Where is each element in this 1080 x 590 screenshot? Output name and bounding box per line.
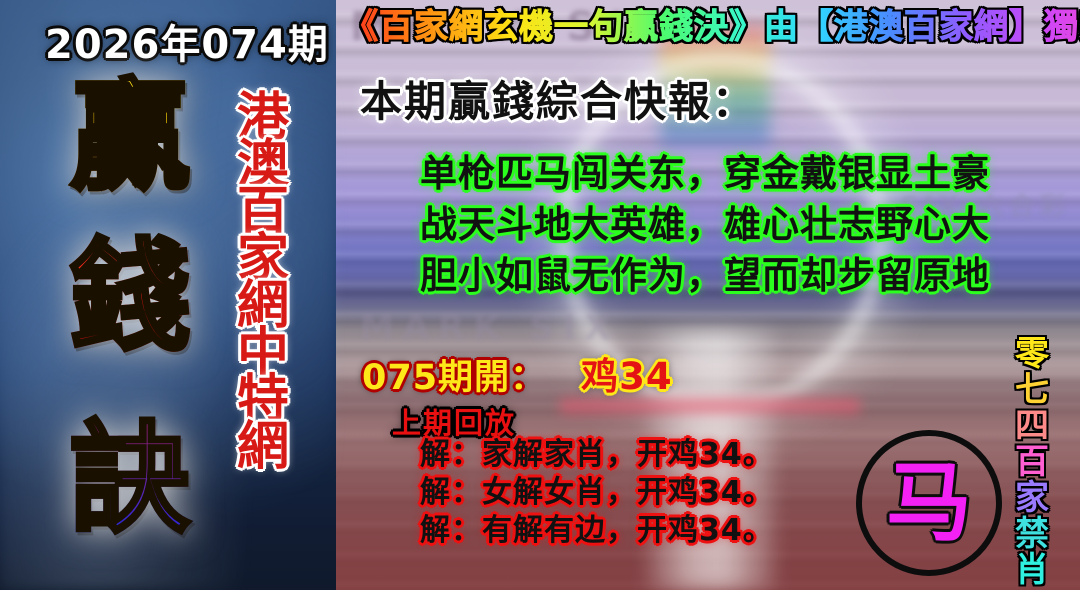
brand-glyph-win-char: 贏 bbox=[50, 78, 210, 198]
background-watermark-mid: MARK SIX bbox=[360, 308, 780, 348]
forbidden-vertical-char-4: 家 bbox=[1004, 480, 1060, 516]
lottery-poster: MARK SIX MARK SIX SIX 六合彩 2026年074期 贏 錢 … bbox=[0, 0, 1080, 590]
forbidden-vertical-char-1: 七 bbox=[1004, 372, 1060, 408]
brand-vertical-text: 港 澳 百 家 網 中 特 網 bbox=[228, 95, 298, 471]
forbidden-vertical-char-3: 百 bbox=[1004, 444, 1060, 480]
period-title: 2026年074期 bbox=[45, 12, 329, 70]
replay-line-1: 解：家解家肖，开鸡34。 bbox=[420, 436, 774, 474]
forbidden-zodiac-vertical-text: 零 七 四 百 家 禁 肖 bbox=[1004, 336, 1060, 588]
draw-result-value: 鸡34 bbox=[581, 355, 673, 398]
poem-line-2: 战天斗地大英雄，雄心壮志野心大 bbox=[420, 199, 1000, 250]
brand-glyph-money: 錢 bbox=[50, 238, 210, 358]
forbidden-vertical-char-6: 肖 bbox=[1004, 552, 1060, 588]
main-headline: 本期贏錢綜合快報： bbox=[360, 78, 756, 126]
brand-glyph-money-char: 錢 bbox=[50, 238, 210, 358]
zodiac-badge-char: 马 bbox=[886, 460, 972, 546]
brand-glyph-secret-char: 訣 bbox=[50, 420, 210, 540]
forecast-poem: 单枪匹马闯关东，穿金戴银显土豪 战天斗地大英雄，雄心壮志野心大 胆小如鼠无作为，… bbox=[420, 148, 1000, 301]
replay-line-2: 解：女解女肖，开鸡34。 bbox=[420, 474, 774, 512]
forbidden-vertical-char-2: 四 bbox=[1004, 408, 1060, 444]
replay-list: 解：家解家肖，开鸡34。 解：女解女肖，开鸡34。 解：有解有边，开鸡34。 bbox=[420, 436, 774, 550]
zodiac-badge: 马 bbox=[856, 430, 1002, 576]
brand-vertical-char-7: 網 bbox=[228, 424, 298, 471]
poem-line-3: 胆小如鼠无作为，望而却步留原地 bbox=[420, 250, 1000, 301]
forbidden-vertical-char-5: 禁 bbox=[1004, 516, 1060, 552]
brand-glyph-secret: 訣 bbox=[50, 420, 210, 540]
brand-glyph-win: 贏 bbox=[50, 78, 210, 198]
poem-line-1: 单枪匹马闯关东，穿金戴银显土豪 bbox=[420, 148, 1000, 199]
background-red-stage-bar bbox=[560, 398, 860, 414]
draw-result-row: 075期開： 鸡34 bbox=[362, 346, 673, 400]
top-banner-text: 《百家網玄機一句贏錢決》由【港澳百家網】獨家提供 bbox=[344, 7, 1080, 47]
top-banner: 《百家網玄機一句贏錢決》由【港澳百家網】獨家提供 bbox=[344, 7, 1056, 47]
forbidden-vertical-char-0: 零 bbox=[1004, 336, 1060, 372]
replay-line-3: 解：有解有边，开鸡34。 bbox=[420, 512, 774, 550]
draw-result-label: 075期開： bbox=[362, 358, 546, 398]
